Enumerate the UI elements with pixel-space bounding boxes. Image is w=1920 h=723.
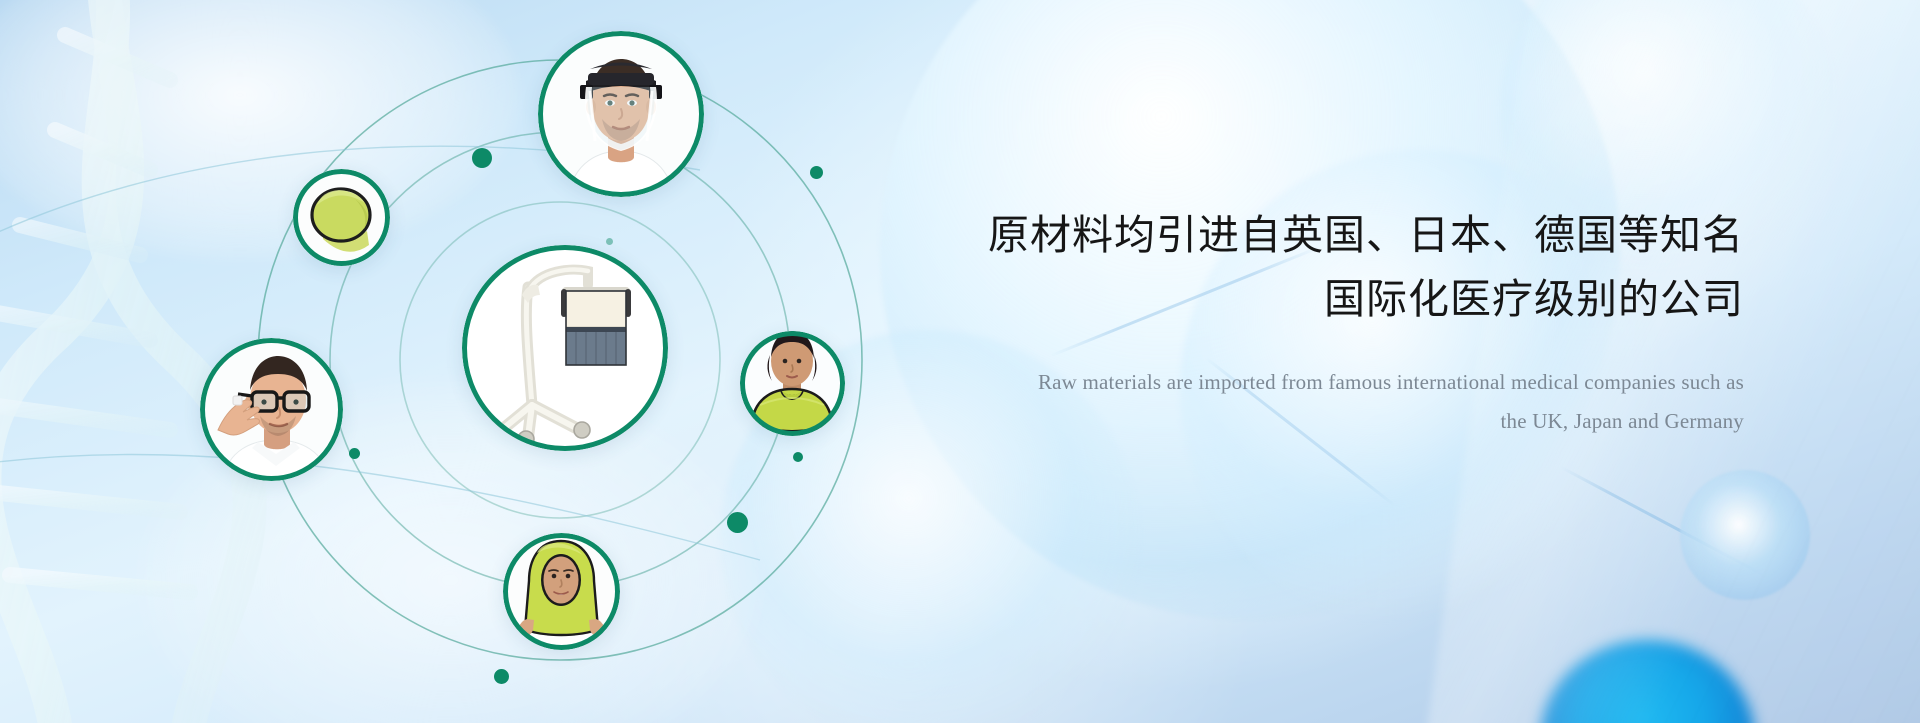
text-block: 原材料均引进自英国、日本、德国等知名 国际化医疗级别的公司 Raw materi… [984,205,1744,441]
bubble-face-shield[interactable] [538,31,704,197]
bubble-lead-hood-photo [503,533,620,650]
orbit-dot [472,148,492,168]
subheading-line-2: the UK, Japan and Germany [984,402,1744,441]
molecule-atom-cyan [1540,640,1755,723]
bubble-lead-hood[interactable] [503,533,620,650]
lead-hood-icon [503,533,620,650]
bubble-thyroid-collar-photo [740,331,845,436]
orbit-dot [727,512,748,533]
bubble-face-shield-photo [538,31,704,197]
bubble-lead-cap[interactable] [293,169,390,266]
thyroid-collar-icon [740,331,845,436]
bubble-lead-glasses[interactable] [200,338,343,481]
subheading: Raw materials are imported from famous i… [984,363,1744,441]
orbit-dot [793,452,803,462]
bubble-lead-glasses-photo [200,338,343,481]
lead-glasses-icon [200,338,343,481]
headline-line-2: 国际化医疗级别的公司 [984,269,1744,329]
headline-line-1: 原材料均引进自英国、日本、德国等知名 [984,205,1744,265]
subheading-line-1: Raw materials are imported from famous i… [984,363,1744,402]
molecule-atom-small [1680,470,1810,600]
bubble-mobile-lead-shield-photo [462,245,668,451]
bubble-thyroid-collar[interactable] [740,331,845,436]
face-shield-icon [538,31,704,197]
lead-cap-icon [293,169,390,266]
orbit-dot [810,166,823,179]
bubble-lead-cap-photo [293,169,390,266]
banner-root: 原材料均引进自英国、日本、德国等知名 国际化医疗级别的公司 Raw materi… [0,0,1920,723]
orbit-dot [606,238,613,245]
orbit-dot [494,669,509,684]
lead-screen-icon [462,245,668,451]
orbit-dot [349,448,360,459]
bubble-mobile-lead-shield[interactable] [462,245,668,451]
molecule-bond-line [1561,466,1765,577]
